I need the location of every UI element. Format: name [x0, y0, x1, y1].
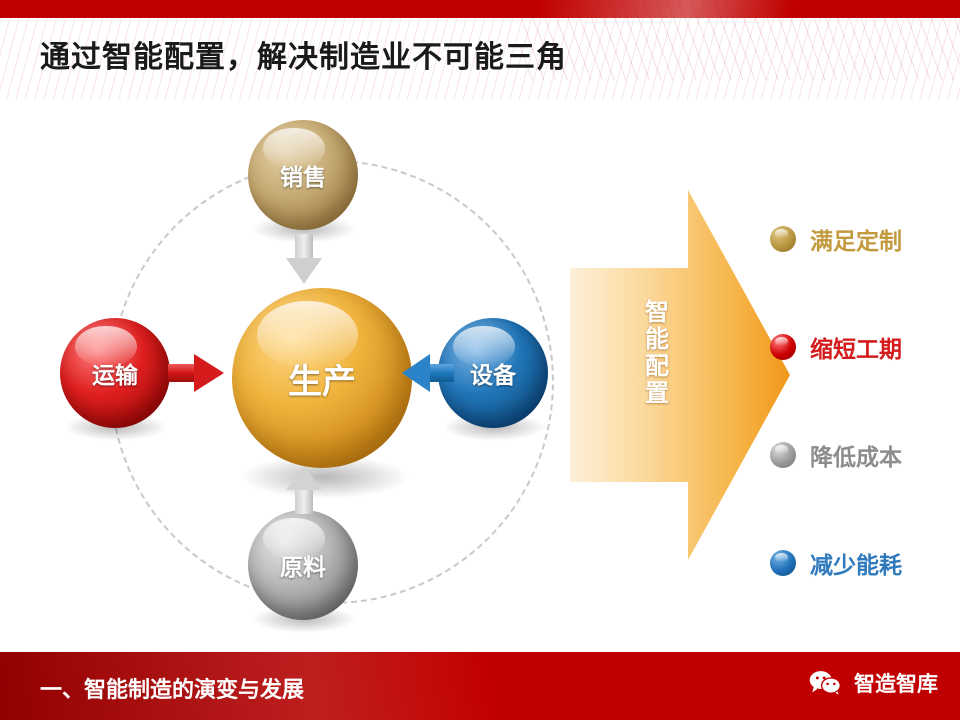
- legend-bullet-icon: [770, 550, 796, 576]
- arrow-right-icon: [168, 354, 224, 392]
- node-material[interactable]: 原料: [248, 510, 358, 620]
- legend-item-3[interactable]: 减少能耗: [770, 509, 960, 617]
- arrow-down-icon: [286, 234, 322, 284]
- node-production-label: 生产: [288, 354, 356, 403]
- arrow-stem: [295, 488, 313, 514]
- legend-label: 缩短工期: [810, 330, 902, 364]
- brand-name: 智造智库: [854, 668, 938, 698]
- node-sales-label: 销售: [280, 158, 326, 192]
- brand: 智造智库: [808, 668, 938, 698]
- legend-bullet-icon: [770, 226, 796, 252]
- arrow-head: [286, 258, 322, 284]
- section-title: 一、智能制造的演变与发展: [40, 672, 304, 704]
- legend-bullet-icon: [770, 334, 796, 360]
- arrow-stem: [426, 364, 454, 382]
- arrow-stem: [295, 234, 313, 260]
- node-transport[interactable]: 运输: [60, 318, 170, 428]
- legend-label: 减少能耗: [810, 546, 902, 580]
- arrow-left-icon: [402, 354, 454, 392]
- page-title: 通过智能配置，解决制造业不可能三角: [40, 32, 567, 76]
- node-sales[interactable]: 销售: [248, 120, 358, 230]
- arrow-head: [286, 466, 322, 490]
- node-material-label: 原料: [280, 548, 326, 582]
- big-arrow-shape: [570, 190, 790, 560]
- legend-label: 降低成本: [810, 438, 902, 472]
- wechat-icon: [808, 669, 842, 697]
- arrow-head: [402, 354, 430, 392]
- node-transport-label: 运输: [92, 356, 138, 390]
- node-equipment[interactable]: 设备: [438, 318, 548, 428]
- node-equipment-label: 设备: [470, 356, 516, 390]
- slide: 通过智能配置，解决制造业不可能三角 生产 销售 运输 设备 原料: [0, 0, 960, 720]
- legend-item-0[interactable]: 满足定制: [770, 185, 960, 293]
- legend-bullet-icon: [770, 442, 796, 468]
- arrow-stem: [168, 364, 196, 382]
- header-hairline-pattern-secondary: [520, 0, 960, 80]
- legend-item-2[interactable]: 降低成本: [770, 401, 960, 509]
- legend-item-1[interactable]: 缩短工期: [770, 293, 960, 401]
- arrow-head: [194, 354, 224, 392]
- legend: 满足定制 缩短工期 降低成本 减少能耗: [770, 185, 960, 617]
- legend-label: 满足定制: [810, 222, 902, 256]
- arrow-up-icon: [286, 466, 322, 514]
- node-production[interactable]: 生产: [232, 288, 412, 468]
- big-arrow-label: 智能配置: [640, 300, 674, 408]
